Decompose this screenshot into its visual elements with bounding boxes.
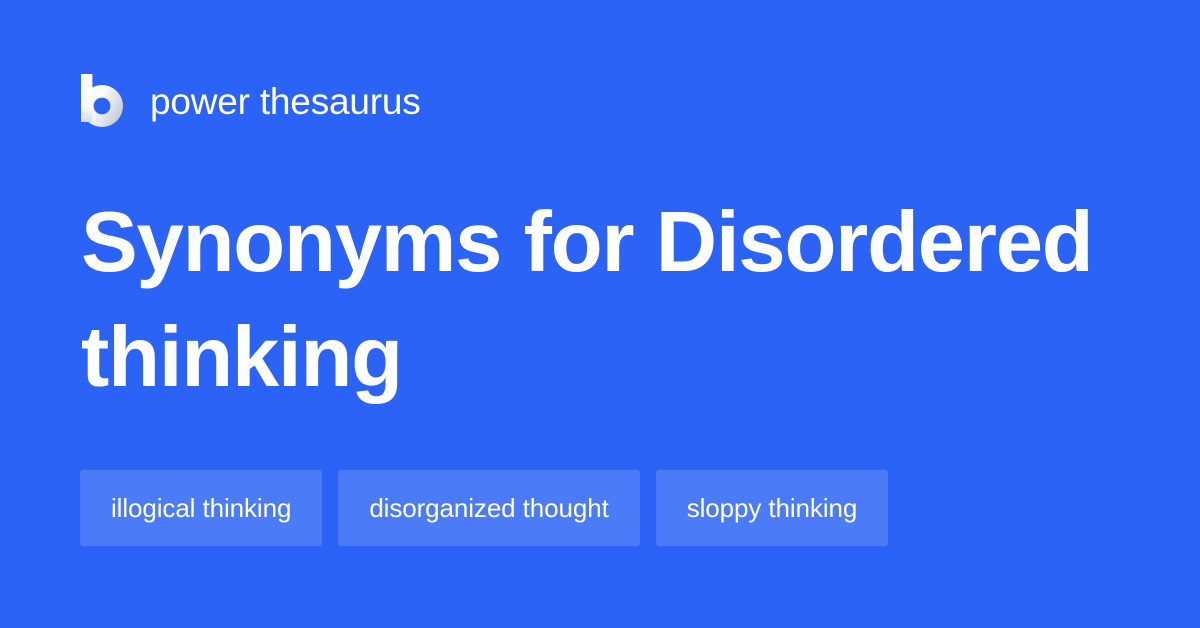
synonym-chip[interactable]: sloppy thinking xyxy=(656,470,889,546)
brand-lockup[interactable]: power thesaurus xyxy=(81,72,421,130)
og-card: power thesaurus Synonyms for Disordered … xyxy=(0,0,1200,628)
synonym-chip-list: illogical thinking disorganized thought … xyxy=(80,470,888,546)
power-thesaurus-b-logo-icon xyxy=(81,74,124,128)
synonym-chip[interactable]: illogical thinking xyxy=(80,470,322,546)
synonym-chip[interactable]: disorganized thought xyxy=(338,470,639,546)
brand-name: power thesaurus xyxy=(150,83,421,120)
page-title: Synonyms for Disordered thinking xyxy=(81,185,1121,415)
